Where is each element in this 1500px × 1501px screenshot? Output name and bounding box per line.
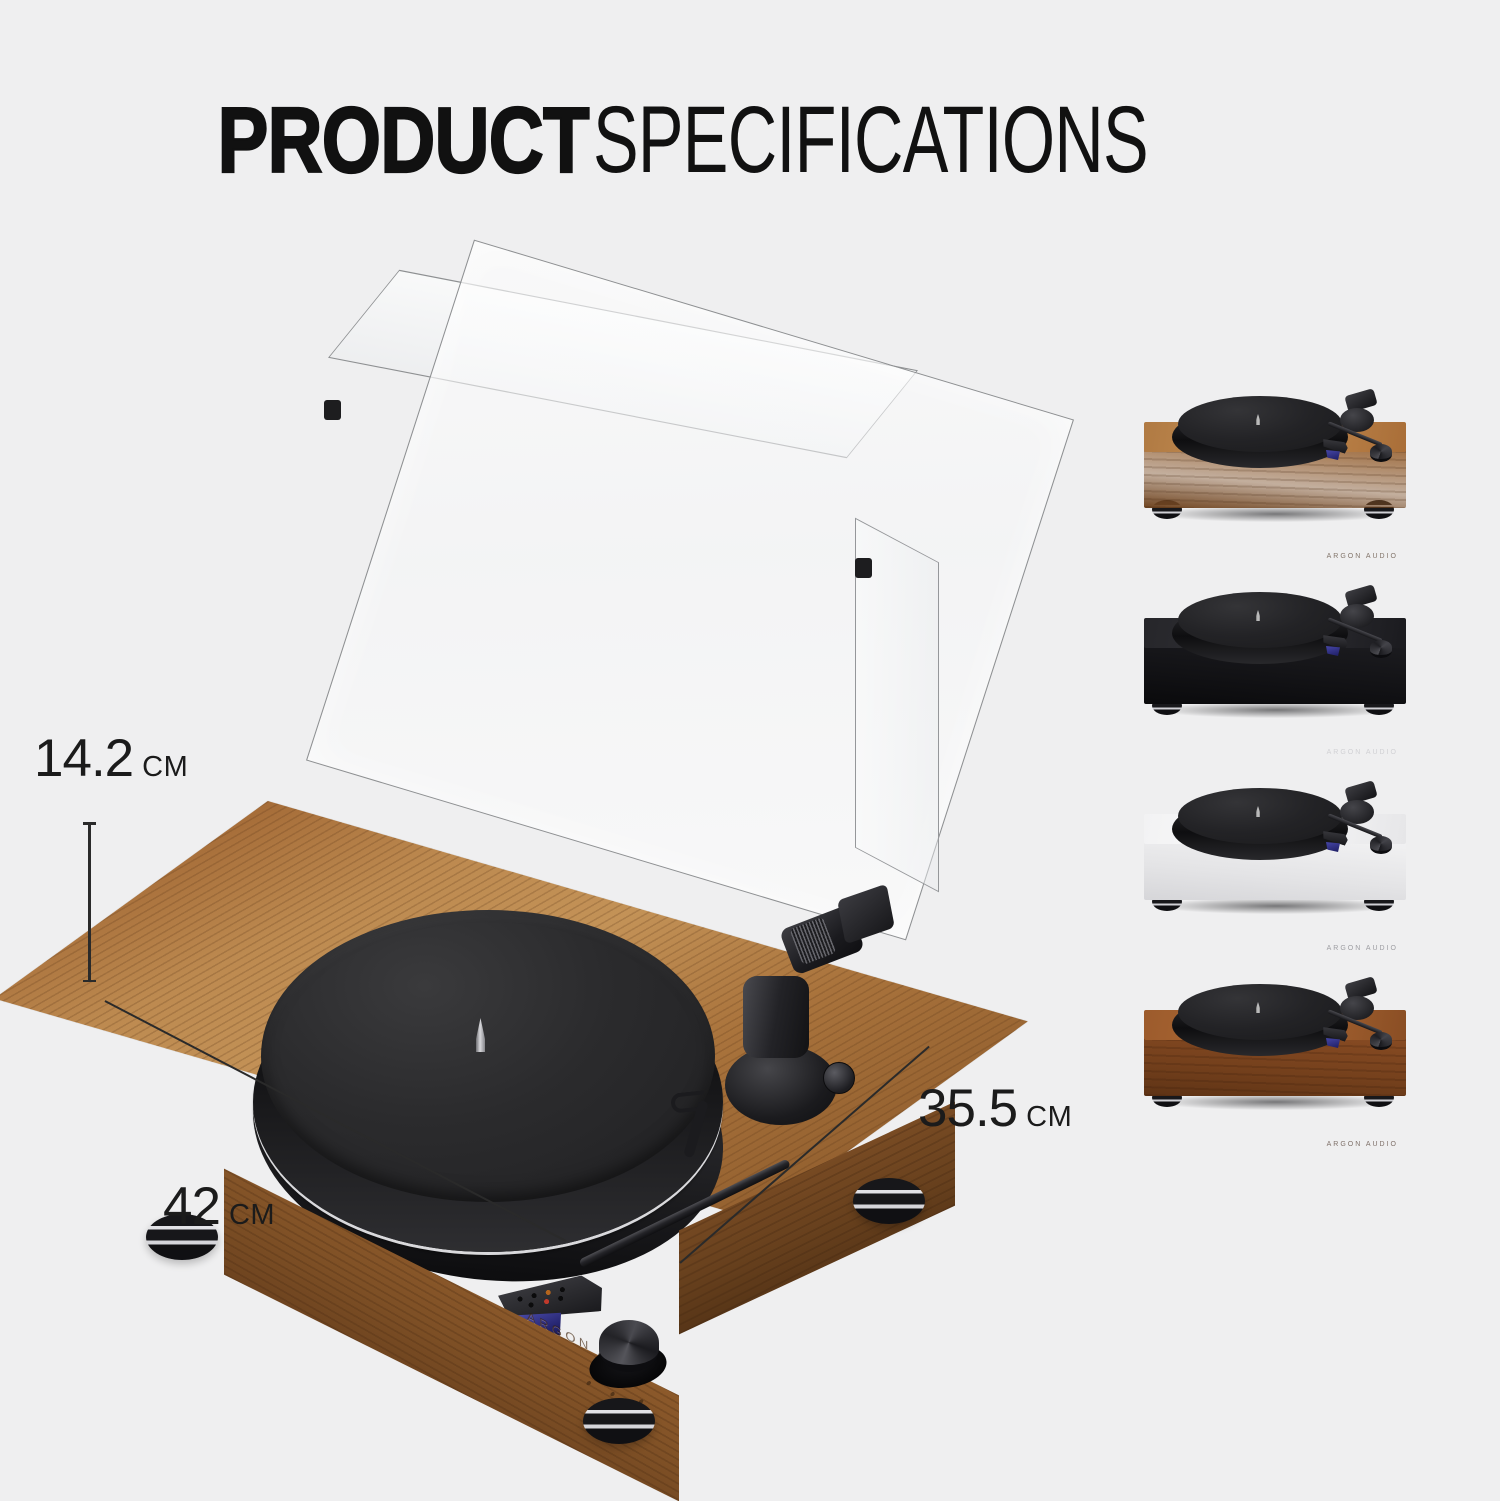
variant-speed-knob: [1370, 640, 1392, 658]
platter-felt-mat: [261, 910, 715, 1202]
dust-cover-hinge-right-icon: [855, 558, 872, 578]
variant-speed-knob: [1370, 444, 1392, 462]
tonearm-pillar: [743, 976, 809, 1058]
variant-walnut[interactable]: ARGON AUDIO: [1108, 388, 1438, 578]
variant-platter-mat: [1178, 592, 1342, 648]
variant-black[interactable]: ARGON AUDIO: [1108, 584, 1438, 774]
variant-brand-logo: ARGON AUDIO: [1327, 553, 1398, 560]
variant-shadow: [1158, 1094, 1394, 1110]
variant-white[interactable]: ARGON AUDIO: [1108, 780, 1438, 970]
height-leader-line: [88, 822, 91, 982]
variant-shadow: [1158, 702, 1394, 718]
depth-value: 35.5: [918, 1079, 1017, 1138]
depth-unit: CM: [1026, 1101, 1072, 1133]
variant-platter-mat: [1178, 788, 1342, 844]
isolation-foot: [853, 1178, 925, 1224]
page-title: PRODUCTSPECIFICATIONS: [0, 86, 1500, 195]
depth-dimension-label: 35.5CM: [918, 1078, 1072, 1139]
isolation-foot: [583, 1398, 655, 1444]
main-product-illustration: ARGON AUDIO: [95, 300, 1015, 1280]
color-variant-list: ARGON AUDIO ARGON AUDIO ARGON AUDIO: [1108, 388, 1448, 1172]
speed-selector-knob[interactable]: [599, 1320, 659, 1372]
height-unit: CM: [142, 751, 188, 783]
anti-skate-dial[interactable]: [823, 1062, 855, 1094]
variant-platter-mat: [1178, 396, 1342, 452]
variant-mahogany[interactable]: ARGON AUDIO: [1108, 976, 1438, 1166]
width-value: 42: [163, 1177, 220, 1236]
height-value: 14.2: [34, 729, 133, 788]
height-dimension-label: 14.2CM: [34, 728, 188, 789]
variant-platter-mat: [1178, 984, 1342, 1040]
variant-brand-logo: ARGON AUDIO: [1327, 749, 1398, 756]
variant-brand-logo: ARGON AUDIO: [1327, 945, 1398, 952]
variant-brand-logo: ARGON AUDIO: [1327, 1141, 1398, 1148]
width-unit: CM: [229, 1199, 275, 1231]
width-dimension-label: 42CM: [163, 1176, 275, 1237]
title-specifications-word: SPECIFICATIONS: [593, 86, 1148, 195]
title-product-word: PRODUCT: [218, 87, 589, 194]
variant-speed-knob: [1370, 836, 1392, 854]
variant-speed-knob: [1370, 1032, 1392, 1050]
dust-cover-hinge-left-icon: [324, 400, 341, 420]
variant-shadow: [1158, 898, 1394, 914]
variant-shadow: [1158, 506, 1394, 522]
